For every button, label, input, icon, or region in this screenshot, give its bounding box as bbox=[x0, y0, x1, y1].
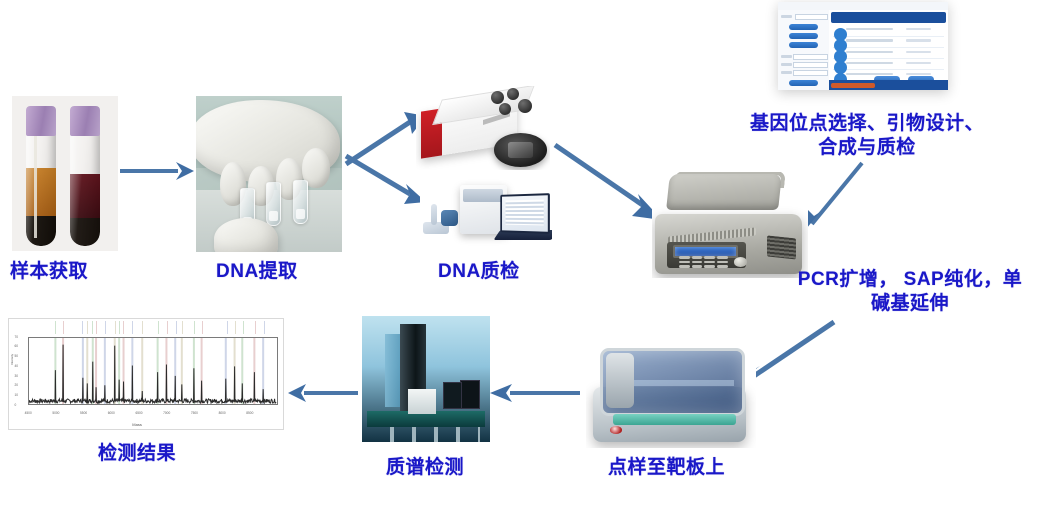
software-action-button[interactable] bbox=[789, 33, 818, 39]
arrow-ms-to-result bbox=[286, 380, 360, 406]
step-image-qc-kit bbox=[416, 86, 550, 170]
step-image-extraction bbox=[196, 96, 342, 252]
qc-accessory-pipette bbox=[431, 204, 438, 225]
step-label-sample: 样本获取 bbox=[10, 256, 88, 283]
marker-tick bbox=[123, 321, 124, 334]
chart-ytick-label: 0 bbox=[14, 403, 16, 407]
step-label-result: 检测结果 bbox=[98, 438, 176, 465]
step-label-extraction: DNA提取 bbox=[216, 256, 298, 283]
software-sidebar bbox=[778, 10, 830, 90]
workflow-diagram: 样本获取 DNA提取 bbox=[0, 0, 1040, 509]
chart-ytick-label: 10 bbox=[14, 393, 18, 397]
step-image-sample bbox=[12, 96, 118, 251]
chart-plot-area bbox=[28, 337, 277, 405]
reagent-cap bbox=[507, 88, 519, 100]
ms-monitor bbox=[460, 380, 480, 410]
chart-xtick-label: 6500 bbox=[135, 411, 142, 415]
marker-tick bbox=[119, 321, 120, 334]
marker-tick bbox=[255, 321, 256, 334]
marker-tick bbox=[227, 321, 228, 334]
software-submit-button[interactable] bbox=[789, 80, 818, 86]
chart-ytick-label: 50 bbox=[14, 354, 18, 358]
marker-tick bbox=[142, 321, 143, 334]
marker-tick bbox=[176, 321, 177, 334]
target-plate-tray bbox=[613, 414, 735, 425]
step-label-qc: DNA质检 bbox=[438, 256, 520, 283]
software-results-header bbox=[831, 12, 945, 22]
chart-ytick-label: 40 bbox=[14, 364, 18, 368]
step-label-pcr: PCR扩增， SAP纯化，单碱基延伸 bbox=[790, 268, 1030, 316]
marker-tick bbox=[167, 321, 168, 334]
pcr-instrument-body bbox=[655, 214, 802, 273]
software-field-label bbox=[781, 55, 792, 58]
tube-cap bbox=[70, 106, 100, 136]
pcr-side-vent bbox=[767, 235, 796, 259]
result-value-text bbox=[906, 73, 931, 75]
reagent-cap bbox=[499, 103, 511, 115]
marker-tick bbox=[87, 321, 88, 334]
marker-tick bbox=[158, 321, 159, 334]
marker-tick bbox=[264, 321, 265, 334]
result-name-text bbox=[846, 73, 893, 75]
chart-xtick-label: 7000 bbox=[163, 411, 170, 415]
chart-xtick-label: 8500 bbox=[246, 411, 253, 415]
step-image-spotting bbox=[586, 342, 756, 448]
arrow-qc-to-pcr bbox=[552, 140, 664, 226]
ms-sample-loader bbox=[408, 389, 436, 414]
qc-reader-disk bbox=[494, 133, 548, 167]
marker-tick bbox=[243, 321, 244, 334]
marker-tick bbox=[55, 321, 56, 334]
pcr-heated-lid bbox=[666, 174, 782, 210]
pcr-keypad[interactable] bbox=[679, 256, 729, 268]
ms-monitor-secondary bbox=[443, 382, 462, 409]
chart-ytick-label: 60 bbox=[14, 344, 18, 348]
marker-tick bbox=[92, 321, 93, 334]
marker-tick bbox=[63, 321, 64, 334]
software-status-message bbox=[831, 83, 875, 88]
nanodispenser-arm bbox=[606, 353, 633, 408]
chart-ytick-label: 30 bbox=[14, 374, 18, 378]
software-input[interactable] bbox=[793, 62, 828, 68]
chart-xtick-label: 8000 bbox=[219, 411, 226, 415]
chart-xtick-label: 5500 bbox=[80, 411, 87, 415]
chart-xtick-label: 6000 bbox=[108, 411, 115, 415]
chart-xtick-label: 4500 bbox=[25, 411, 32, 415]
result-name-text bbox=[846, 51, 893, 53]
chart-ytick-label: 70 bbox=[14, 335, 18, 339]
tube-glass bbox=[70, 134, 100, 246]
chart-xlabel: Mass bbox=[132, 422, 142, 427]
software-action-button[interactable] bbox=[789, 42, 818, 48]
reagent-cap bbox=[518, 99, 532, 113]
tube-separator bbox=[34, 132, 37, 238]
step-image-result-spectrum: Intensity Mass 4500500055006000650070007… bbox=[8, 318, 284, 430]
qc-accessory-holder bbox=[441, 210, 458, 226]
bench-legs bbox=[372, 427, 480, 442]
marker-ticks bbox=[28, 321, 277, 334]
pcr-dial-knob[interactable] bbox=[734, 257, 747, 266]
step-image-design-software bbox=[778, 2, 948, 90]
software-field-label bbox=[781, 71, 792, 74]
blood-tube-right bbox=[70, 106, 100, 246]
tube-glass bbox=[26, 134, 56, 246]
result-name-text bbox=[846, 28, 893, 30]
chart-ytick-label: 20 bbox=[14, 383, 18, 387]
step-image-pcr bbox=[652, 172, 808, 278]
marker-tick bbox=[182, 321, 183, 334]
step-label-msdetect: 质谱检测 bbox=[386, 452, 464, 479]
arrow-design-to-pcr bbox=[798, 160, 866, 238]
result-name-text bbox=[846, 62, 893, 64]
marker-tick bbox=[105, 321, 106, 334]
marker-tick bbox=[194, 321, 195, 334]
microcentrifuge-tube bbox=[266, 182, 281, 226]
result-value-text bbox=[906, 62, 931, 64]
software-input[interactable] bbox=[793, 54, 828, 60]
step-label-design: 基因位点选择、引物设计、合成与质检 bbox=[742, 112, 992, 160]
chart-xtick-label: 5000 bbox=[52, 411, 59, 415]
software-results-panel bbox=[829, 10, 948, 90]
software-field-label bbox=[781, 15, 792, 18]
laptop-screen bbox=[500, 193, 549, 234]
gloved-thumb bbox=[214, 218, 278, 252]
arrow-sample-to-extraction bbox=[118, 158, 196, 184]
software-field-label bbox=[781, 63, 792, 66]
step-image-qc-analyzer bbox=[420, 172, 552, 252]
result-value-text bbox=[906, 39, 931, 41]
arrow-spotting-to-ms bbox=[486, 380, 582, 406]
marker-tick bbox=[132, 321, 133, 334]
power-indicator-icon bbox=[610, 426, 622, 434]
marker-tick bbox=[96, 321, 97, 334]
spectrum-trace bbox=[29, 338, 276, 404]
reagent-cap bbox=[491, 91, 504, 104]
step-image-mass-spectrometer bbox=[362, 316, 490, 442]
result-value-text bbox=[906, 28, 931, 30]
marker-tick bbox=[202, 321, 203, 334]
blood-tube-left bbox=[26, 106, 56, 246]
marker-tick bbox=[235, 321, 236, 334]
marker-tick bbox=[82, 321, 83, 334]
tube-cap bbox=[26, 106, 56, 136]
result-name-text bbox=[846, 39, 893, 41]
chart-ylabel: Intensity bbox=[10, 354, 14, 365]
step-label-spotting: 点样至靶板上 bbox=[608, 452, 725, 479]
microcentrifuge-tube bbox=[293, 180, 308, 224]
software-input[interactable] bbox=[793, 70, 828, 76]
result-value-text bbox=[906, 51, 931, 53]
chart-xtick-label: 7500 bbox=[191, 411, 198, 415]
marker-tick bbox=[115, 321, 116, 334]
software-input[interactable] bbox=[795, 14, 828, 20]
software-action-button[interactable] bbox=[789, 24, 818, 30]
